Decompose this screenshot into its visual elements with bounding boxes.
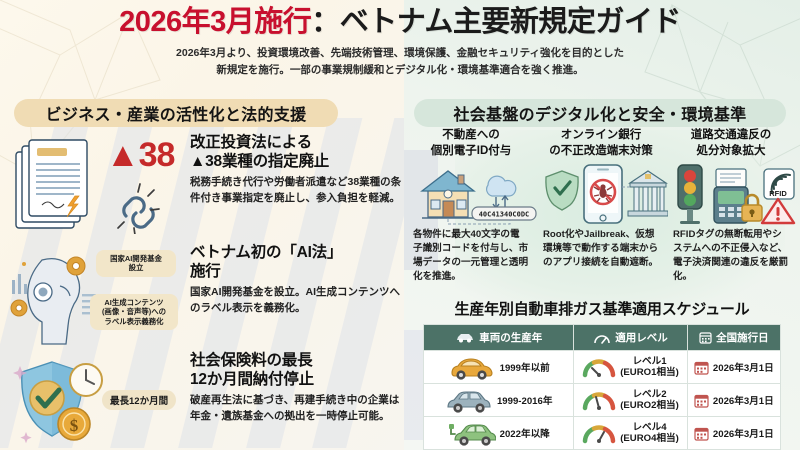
right-column-2-heading: オンライン銀行 の不正改造端末対策 [540,128,662,159]
left-block-2-artwork: 国家AI開発基金 設立 AI生成コンテンツ (画像・音声等)への ラベル表示義務… [10,244,182,346]
row-1-level-cell: レベル1 (EURO1相当) [574,351,687,384]
right-column-1-artwork: 40C41340C0DC [410,163,532,225]
table-header-level: 適用レベル [574,325,687,351]
ai-label-bubble-line-2: (画像・音声等)への [95,307,173,316]
left-block-3-artwork: $ 最長12か月間 [10,352,182,446]
table-header-level-label: 適用レベル [615,330,668,345]
table-header-date: 全国施行日 [687,325,780,351]
row-2-level-cell: レベル2 (EURO2相当) [574,384,687,417]
calendar-icon [699,331,712,344]
row-3-level-cell: レベル4 (EURO4相当) [574,417,687,450]
row-2-year-cell: 1999-2016年 [424,384,574,417]
gauge-icon [582,422,616,444]
row-3-date-cell: 2026年3月1日 [687,417,780,450]
shield-check-icon: $ [12,354,116,446]
row-2-year: 1999-2016年 [497,393,552,407]
row-3-level-line-2: (EURO4相当) [620,433,679,445]
left-block-2-heading: ベトナム初の「AI法」 施行 [190,244,402,282]
section-header-business: ビジネス・産業の活性化と法的支援 [14,99,338,127]
row-1-date-cell: 2026年3月1日 [687,351,780,384]
ai-fund-bubble: 国家AI開発基金 設立 [96,250,176,277]
row-2-level-line-1: レベル2 [620,389,679,401]
property-code-label: 40C41340C0DC [479,211,530,219]
left-block-ai-law: 国家AI開発基金 設立 AI生成コンテンツ (画像・音声等)への ラベル表示義務… [10,244,402,346]
right-column-2-heading-line-1: オンライン銀行 [540,128,662,144]
emission-schedule-title: 生産年別自動車排ガス基準適用スケジュール [404,298,800,319]
page-subtitle: 2026年3月より、投資環境改善、先端技術管理、環境保護、金融セキュリティ強化を… [70,45,730,78]
id-tag-icon: 40C41340C0DC [472,207,536,220]
right-column-3-heading-line-1: 道路交通違反の [670,128,792,144]
ai-label-bubble-line-3: ラベル表示義務化 [95,317,173,326]
table-header-production-year-label: 車両の生産年 [479,330,542,345]
left-block-3-text: 社会保険料の最長 12か月間納付停止 破産再生法に基づき、再建手続き中の企業は年… [190,352,402,446]
page-title: 2026年3月施行：ベトナム主要新規定ガイド [0,6,800,38]
right-column-3-body: RFIDタグの無断転用やシステムへの不正侵入など、電子決済関連の違反を厳罰化。 [670,228,792,284]
gauge-icon [582,356,616,378]
electric-car-icon [448,420,496,446]
infographic-page: 2026年3月施行：ベトナム主要新規定ガイド 2026年3月より、投資環境改善、… [0,0,800,450]
car-icon [455,332,475,343]
emission-schedule-section: 生産年別自動車排ガス基準適用スケジュール 車両の生産年 [404,298,800,450]
shield-check-icon [546,171,578,210]
row-2-date-cell: 2026年3月1日 [687,384,780,417]
row-3-year-cell: 2022年以降 [424,417,574,450]
row-2-date: 2026年3月1日 [713,393,774,407]
lock-icon [742,195,762,221]
right-column-online-banking: オンライン銀行 の不正改造端末対策 [536,128,666,284]
sedan-car-icon [445,387,493,413]
left-block-2-heading-line-1: ベトナム初の「AI法」 [190,244,402,263]
page-title-main: ベトナム主要新規定ガイド [340,6,681,38]
statistic-38-sectors: ▲38 [106,138,174,172]
coin-dollar-icon: $ [58,408,90,440]
right-column-traffic-violations: 道路交通違反の 処分対象拡大 [666,128,796,284]
right-columns: 不動産への 個別電子ID付与 [406,128,798,284]
row-1-year: 1999年以前 [500,360,550,374]
table-header-production-year: 車両の生産年 [424,325,574,351]
left-block-1-body: 税務手続き代行や労働者派遣など38業種の条件付き事業指定を廃止し、参入負担を軽減… [190,175,402,207]
left-block-3-heading-line-1: 社会保険料の最長 [190,352,402,371]
right-column-3-heading: 道路交通違反の 処分対象拡大 [670,128,792,159]
table-row: 1999年以前 [424,351,781,384]
right-column-1-heading-line-2: 個別電子ID付与 [410,144,532,160]
left-block-1-text: 改正投資法による ▲38業種の指定廃止 税務手続き代行や労働者派遣など38業種の… [190,134,402,238]
vintage-car-icon [448,354,496,380]
row-3-date: 2026年3月1日 [713,426,774,440]
calendar-icon [694,393,709,408]
left-block-2-heading-line-2: 施行 [190,263,402,282]
row-2-level-line-2: (EURO2相当) [620,400,679,412]
right-column-3-heading-line-2: 処分対象拡大 [670,144,792,160]
page-subtitle-line-1: 2026年3月より、投資環境改善、先端技術管理、環境保護、金融セキュリティ強化を… [70,45,730,61]
pos-terminal-icon [714,169,762,223]
left-block-1-heading-line-1: 改正投資法による [190,134,402,153]
right-column-1-body: 各物件に最大40文字の電子識別コードを付与し、市場データの一元管理と透明化を推進… [410,228,532,284]
page-title-date: 2026年3月施行 [119,6,311,38]
gauge-icon [593,332,611,344]
duration-badge: 最長12か月間 [102,390,176,410]
table-row: 1999-2016年 [424,384,781,417]
ai-label-bubble: AI生成コンテンツ (画像・音声等)への ラベル表示義務化 [90,294,178,330]
right-column-2-artwork [540,163,662,225]
broken-chain-icon [104,178,166,234]
cloud-sync-icon [487,176,516,208]
left-block-social-insurance: $ 最長12か月間 社会保険料の最長 12か月間納付停止 破産再生法に基づき、再… [10,352,402,446]
left-block-1-artwork: ▲38 [10,134,182,238]
gauge-icon [582,389,616,411]
calendar-icon [694,360,709,375]
right-column-2-body: Root化やJailbreak、仮想環境等で動作する端末からのアプリ接続を自動遮… [540,228,662,270]
row-3-year: 2022年以降 [500,426,550,440]
left-block-investment-law: ▲38 改正投資法による ▲38業種の指定廃止 税務手続き代行や労働者派遣など3… [10,134,402,238]
row-1-level-line-2: (EURO1相当) [620,367,679,379]
row-1-level-line-1: レベル1 [620,356,679,368]
calendar-icon [694,426,709,441]
right-column-property-id: 不動産への 個別電子ID付与 [406,128,536,284]
row-1-year-cell: 1999年以前 [424,351,574,384]
page-title-separator: ： [311,6,340,38]
table-row: 2022年以降 [424,417,781,450]
left-block-2-text: ベトナム初の「AI法」 施行 国家AI開発基金を設立。AI生成コンテンツへのラベ… [190,244,402,346]
bank-icon [628,171,668,216]
left-block-1-heading-line-2: ▲38業種の指定廃止 [190,153,402,172]
clock-icon [70,364,102,396]
rfid-label: RFID [769,189,787,198]
house-icon [422,171,474,218]
traffic-light-icon [678,165,702,224]
left-block-3-body: 破産再生法に基づき、再建手続き中の企業は年金・遺族基金への拠出を一時停止可能。 [190,393,402,425]
row-3-level-line-1: レベル4 [620,422,679,434]
section-header-infrastructure: 社会基盤のデジタル化と安全・環境基準 [414,99,786,127]
ai-label-bubble-line-1: AI生成コンテンツ [95,298,173,307]
warning-triangle-icon [762,199,794,223]
page-subtitle-line-2: 新規定を施行。一部の事業規制緩和とデジタル化・環境基準適合を強く推進。 [70,62,730,78]
right-column-1-heading-line-1: 不動産への [410,128,532,144]
emission-schedule-table: 車両の生産年 適用レベル [423,324,781,450]
smartphone-blocked-icon [584,165,622,223]
ai-fund-bubble-line-2: 設立 [101,263,171,272]
ai-fund-bubble-line-1: 国家AI開発基金 [101,254,171,263]
svg-text:$: $ [70,416,79,435]
table-header-date-label: 全国施行日 [716,330,769,345]
row-1-date: 2026年3月1日 [713,360,774,374]
right-column-3-artwork: RFID [670,163,792,225]
left-block-3-heading-line-2: 12か月間納付停止 [190,371,402,390]
rfid-tag-icon: RFID [764,169,794,199]
left-block-1-heading: 改正投資法による ▲38業種の指定廃止 [190,134,402,172]
table-header-row: 車両の生産年 適用レベル [424,325,781,351]
right-column-2-heading-line-2: の不正改造端末対策 [540,144,662,160]
left-block-2-body: 国家AI開発基金を設立。AI生成コンテンツへのラベル表示を義務化。 [190,285,402,317]
right-column-1-heading: 不動産への 個別電子ID付与 [410,128,532,159]
left-block-3-heading: 社会保険料の最長 12か月間納付停止 [190,352,402,390]
documents-icon [12,138,107,234]
page-header: 2026年3月施行：ベトナム主要新規定ガイド 2026年3月より、投資環境改善、… [0,6,800,78]
